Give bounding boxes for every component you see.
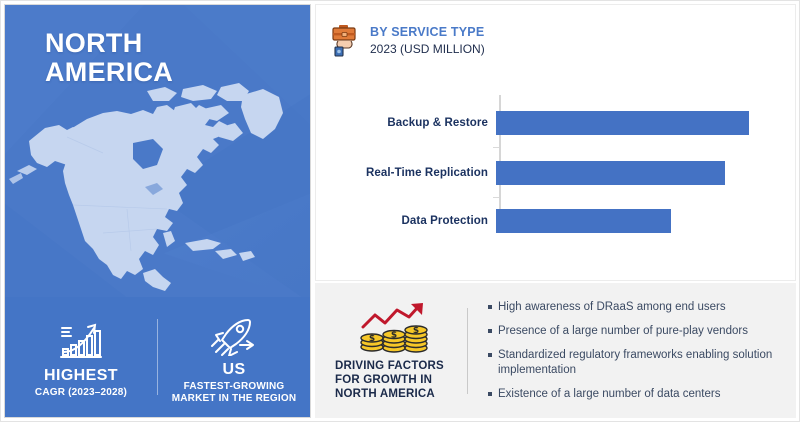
list-item: Standardized regulatory frameworks enabl… <box>488 348 782 378</box>
list-item-label: Standardized regulatory frameworks enabl… <box>498 348 782 378</box>
stat-highest-cagr: HIGHEST CAGR (2023–2028) <box>5 316 157 399</box>
list-item: High awareness of DRaaS among end users <box>488 300 782 315</box>
infographic-root: NORTH AMERICA <box>0 0 800 422</box>
page-title: NORTH AMERICA <box>45 29 173 87</box>
axis-tick <box>493 197 499 198</box>
bar-track <box>494 209 797 233</box>
bar-category-label: Backup & Restore <box>316 117 494 129</box>
table-row: Data Protection <box>316 209 797 233</box>
region-panel: NORTH AMERICA <box>4 4 311 418</box>
list-item-label: Existence of a large number of data cent… <box>498 387 720 402</box>
list-item: Existence of a large number of data cent… <box>488 387 782 402</box>
bar-data-protection <box>496 209 671 233</box>
bar-backup-restore <box>496 111 749 135</box>
list-item: Presence of a large number of pure-play … <box>488 324 782 339</box>
bar-category-label: Real-Time Replication <box>316 167 494 179</box>
bar-track <box>494 161 797 185</box>
list-item-label: Presence of a large number of pure-play … <box>498 324 748 339</box>
stat-fastest-growing: US FASTEST-GROWING MARKET IN THE REGION <box>158 310 310 405</box>
growth-arrow-coins-icon: $ $ <box>357 301 431 353</box>
driving-factors-list: High awareness of DRaaS among end users … <box>468 300 796 402</box>
bar-chart-plot: Backup & Restore Real-Time Replication D… <box>316 91 797 251</box>
svg-text:$: $ <box>413 326 419 336</box>
table-row: Backup & Restore <box>316 111 797 135</box>
square-bullet-icon <box>488 353 492 357</box>
square-bullet-icon <box>488 329 492 333</box>
briefcase-in-hand-icon <box>330 21 360 59</box>
square-bullet-icon <box>488 305 492 309</box>
stat-sub: FASTEST-GROWING MARKET IN THE REGION <box>172 381 297 405</box>
chart-title: BY SERVICE TYPE <box>370 25 485 40</box>
list-item-label: High awareness of DRaaS among end users <box>498 300 726 315</box>
bar-chart-growth-icon <box>58 316 104 362</box>
rocket-icon <box>210 310 258 356</box>
chart-subtitle: 2023 (USD MILLION) <box>370 41 485 57</box>
axis-tick <box>493 147 499 148</box>
driving-factors-heading-block: $ $ <box>315 301 467 401</box>
driving-factors-panel: $ $ <box>315 283 796 418</box>
bar-real-time-replication <box>496 161 725 185</box>
stat-headline: HIGHEST <box>44 367 118 385</box>
region-stats-strip: HIGHEST CAGR (2023–2028) <box>5 297 310 417</box>
stat-sub: CAGR (2023–2028) <box>35 387 127 399</box>
square-bullet-icon <box>488 392 492 396</box>
svg-text:$: $ <box>369 334 375 344</box>
stat-headline: US <box>222 361 245 379</box>
chart-panel: BY SERVICE TYPE 2023 (USD MILLION) Backu… <box>315 4 796 281</box>
north-america-map-icon <box>7 83 311 298</box>
svg-text:$: $ <box>391 330 397 340</box>
bar-track <box>494 111 797 135</box>
chart-header: BY SERVICE TYPE 2023 (USD MILLION) <box>330 21 485 59</box>
bar-category-label: Data Protection <box>316 215 494 227</box>
table-row: Real-Time Replication <box>316 161 797 185</box>
driving-factors-title: DRIVING FACTORS FOR GROWTH IN NORTH AMER… <box>321 359 467 401</box>
